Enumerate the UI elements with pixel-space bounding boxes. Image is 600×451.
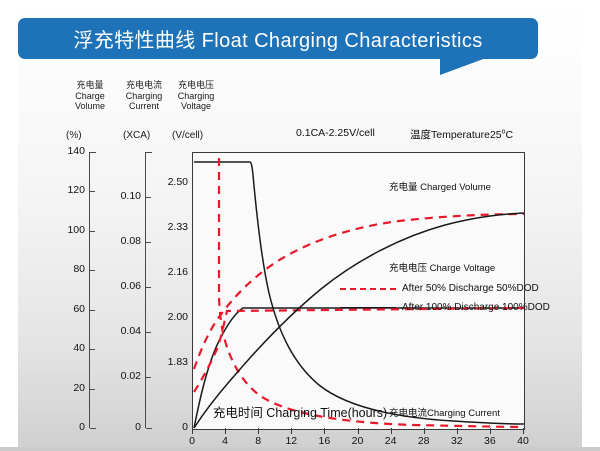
unit-charging-current: (XCA) <box>123 130 150 141</box>
xlabel-28: 28 <box>411 435 437 447</box>
xtick <box>258 428 259 434</box>
ticklabel-cv-40: 40 <box>39 342 85 354</box>
chart-area: 充电量 Charge Volume 充电电流 Charging Current … <box>0 72 600 451</box>
legend: After 50% Discharge 50%DOD After 100% Di… <box>340 279 520 317</box>
ticklabel-cvolt-216: 2.16 <box>146 266 188 278</box>
xlabel-40: 40 <box>510 435 536 447</box>
ticklabel-cv-120: 120 <box>39 184 85 196</box>
xtick <box>291 428 292 434</box>
xtick <box>324 428 325 434</box>
axis-rail-charging-current <box>145 152 146 428</box>
tick-cv <box>89 389 95 390</box>
tick-cc <box>145 377 151 378</box>
legend-label-after-100-dod: After 100% Discharge 100%DOD <box>396 302 550 313</box>
curve-charged-volume-100dod <box>194 213 524 428</box>
annotation-temperature: 温度Temperature25oC <box>410 127 513 142</box>
annotation-temperature-cn: 温度 <box>410 129 431 141</box>
ticklabel-cv-140: 140 <box>39 145 85 157</box>
tick-cv <box>89 310 95 311</box>
title-bubble: 浮充特性曲线 Float Charging Characteristics <box>18 18 538 59</box>
xtick <box>490 428 491 434</box>
tick-cv <box>89 349 95 350</box>
tick-cv <box>89 231 95 232</box>
xlabel-4: 4 <box>212 435 238 447</box>
annotation-condition: 0.1CA-2.25V/cell <box>296 127 375 139</box>
tick-cc <box>145 242 151 243</box>
xtick <box>523 428 524 434</box>
ticklabel-cc-010: 0.10 <box>99 190 141 202</box>
legend-swatch-dashed-icon <box>340 284 396 294</box>
legend-item-after-50-dod: After 50% Discharge 50%DOD <box>340 279 520 298</box>
axis-rail-charge-volume <box>89 152 90 428</box>
tick-cv <box>89 191 95 192</box>
xlabel-24: 24 <box>378 435 404 447</box>
xtick <box>192 428 193 434</box>
curvelabel-charged-volume: 充电量 Charged Volume <box>389 179 491 193</box>
ticklabel-cc-008: 0.08 <box>99 235 141 247</box>
ticklabel-cv-80: 80 <box>39 263 85 275</box>
title-banner: 浮充特性曲线 Float Charging Characteristics <box>18 18 538 64</box>
ticklabel-cv-0: 0 <box>39 421 85 433</box>
ticklabel-cv-60: 60 <box>39 303 85 315</box>
page-title: 浮充特性曲线 Float Charging Characteristics <box>73 24 482 53</box>
annotation-temperature-en: Temperature25 <box>431 129 502 141</box>
axis-header-charging-current: 充电电流 Charging Current <box>116 80 172 112</box>
xtick <box>424 428 425 434</box>
curvelabel-charge-voltage: 充电电压 Charge Voltage <box>389 260 495 274</box>
xlabel-12: 12 <box>278 435 304 447</box>
unit-charging-voltage: (V/cell) <box>172 130 203 141</box>
xtick <box>225 428 226 434</box>
ticklabel-cvolt-0: 0 <box>146 421 188 433</box>
xlabel-36: 36 <box>477 435 503 447</box>
legend-item-after-100-dod: After 100% Discharge 100%DOD <box>340 298 520 317</box>
legend-swatch-solid-icon <box>340 303 396 313</box>
bottom-band <box>0 447 600 451</box>
tick-cc <box>145 197 151 198</box>
annotation-temperature-unit: C <box>506 129 514 141</box>
xtick <box>457 428 458 434</box>
ticklabel-cc-002: 0.02 <box>99 370 141 382</box>
ticklabel-cc-004: 0.04 <box>99 325 141 337</box>
xlabel-32: 32 <box>444 435 470 447</box>
tick-cv <box>89 270 95 271</box>
ticklabel-cv-100: 100 <box>39 224 85 236</box>
xlabel-20: 20 <box>345 435 371 447</box>
xlabel-16: 16 <box>311 435 337 447</box>
ticklabel-cc-006: 0.06 <box>99 280 141 292</box>
xlabel-0: 0 <box>179 435 205 447</box>
ticklabel-cvolt-183: 1.83 <box>146 356 188 368</box>
ticklabel-cc-0: 0 <box>99 421 141 433</box>
unit-charge-volume: (%) <box>66 130 82 141</box>
ticklabel-cvolt-200: 2.00 <box>146 311 188 323</box>
axis-header-charging-voltage: 充电电压 Charging Voltage <box>168 80 224 112</box>
ticklabel-cvolt-233: 2.33 <box>146 221 188 233</box>
ticklabel-cv-20: 20 <box>39 382 85 394</box>
x-axis-title: 充电时间 Charging Time(hours) <box>0 402 600 421</box>
xtick <box>391 428 392 434</box>
axis-header-charge-volume: 充电量 Charge Volume <box>62 80 118 112</box>
tick-cc <box>145 332 151 333</box>
legend-label-after-50-dod: After 50% Discharge 50%DOD <box>396 283 539 294</box>
xtick <box>358 428 359 434</box>
ticklabel-cvolt-250: 2.50 <box>146 176 188 188</box>
chart-page: 浮充特性曲线 Float Charging Characteristics 充电… <box>0 0 600 451</box>
xlabel-8: 8 <box>245 435 271 447</box>
tick-cc <box>145 287 151 288</box>
